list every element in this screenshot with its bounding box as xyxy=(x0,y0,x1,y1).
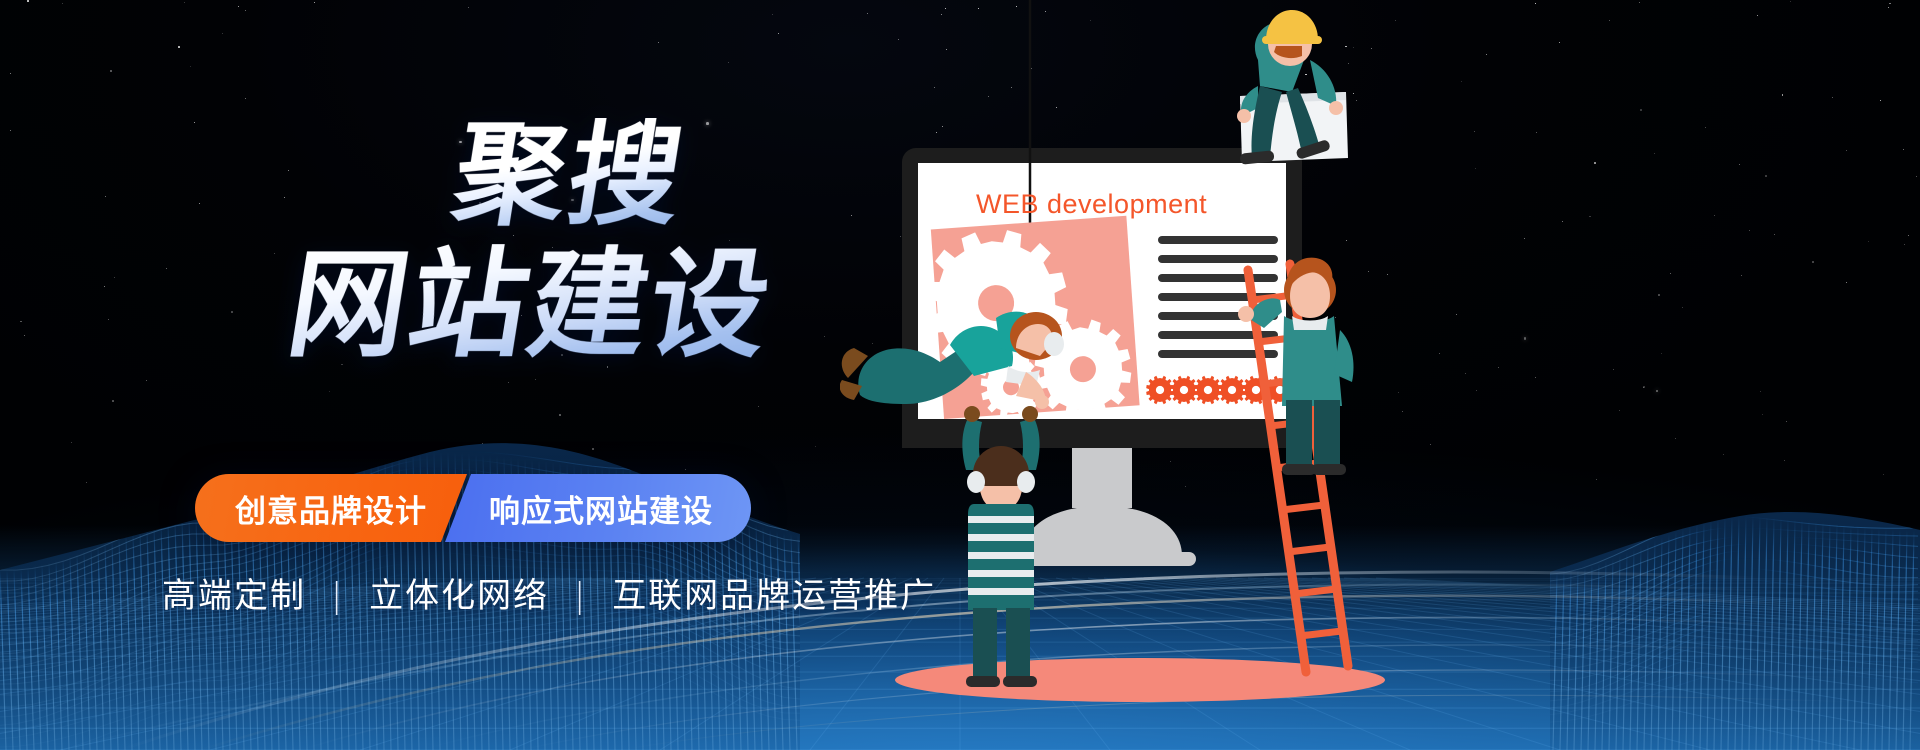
text-line xyxy=(1158,274,1278,282)
monitor-bezel-bottom xyxy=(902,419,1302,448)
headline-block: 聚搜 网站建设 创意品牌设计 响应式网站建设 高端定制 | 立体化网络 | 互联… xyxy=(0,0,900,750)
monitor-neck xyxy=(1072,448,1132,508)
subline: 高端定制 | 立体化网络 | 互联网品牌运营推广 xyxy=(162,568,936,617)
monitor-base-plate xyxy=(1008,552,1196,566)
subline-part-2: 立体化网络 xyxy=(369,576,549,616)
tag-pill-group: 创意品牌设计 响应式网站建设 xyxy=(195,474,751,542)
subline-part-1: 高端定制 xyxy=(162,576,306,616)
web-development-banner: 聚搜 网站建设 创意品牌设计 响应式网站建设 高端定制 | 立体化网络 | 互联… xyxy=(0,0,1920,750)
subline-separator-2: | xyxy=(562,576,599,616)
hard-hat xyxy=(1266,10,1318,40)
web-development-illustration: WEB development xyxy=(840,0,1460,750)
subline-separator-1: | xyxy=(319,576,356,616)
tag-creative-brand-design[interactable]: 创意品牌设计 xyxy=(195,474,467,542)
worker-bottom-center xyxy=(962,406,1039,687)
brand-title: 聚搜 xyxy=(446,118,693,236)
tag-responsive-website[interactable]: 响应式网站建设 xyxy=(445,474,751,542)
worker-top-hardhat xyxy=(1237,10,1348,165)
monitor-base xyxy=(1022,506,1182,556)
text-line xyxy=(1158,236,1278,244)
screen-heading: WEB development xyxy=(976,189,1207,219)
text-line xyxy=(1158,255,1278,263)
page-title: 网站建设 xyxy=(280,243,780,367)
